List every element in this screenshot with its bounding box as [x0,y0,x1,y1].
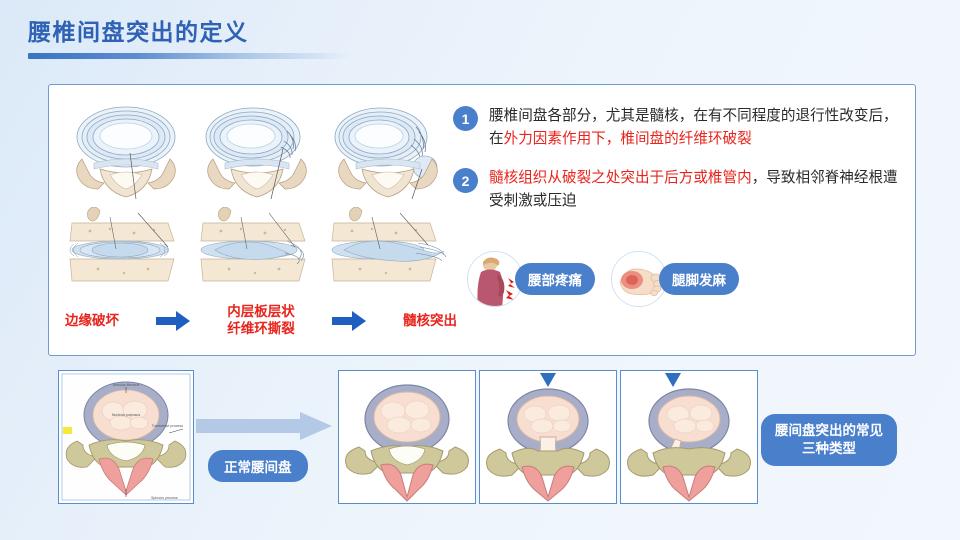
progression-step-3: 髓核突出 [403,313,457,330]
page-title: 腰椎间盘突出的定义 [28,20,350,45]
thick-right-arrow-icon [196,412,332,440]
labeled-normal-lumbar-disc: Annulus fibrosus Nucleus pulposus Transv… [58,370,194,504]
svg-text:Nucleus pulposus: Nucleus pulposus [112,413,141,417]
sagittal-disc-stage-3 [322,207,453,293]
right-arrow-icon [332,311,366,331]
anatomy-figure-group: 边缘破坏 内层板层状 纤维环撕裂 髓核突出 [61,91,453,349]
progression-label-row: 边缘破坏 内层板层状 纤维环撕裂 髓核突出 [65,297,457,345]
sagittal-views-row [61,207,453,293]
svg-text:Annulus fibrosus: Annulus fibrosus [113,383,140,387]
title-block: 腰椎间盘突出的定义 [28,20,350,59]
symptom-row: 腰部疼痛 腿脚发麻 [467,251,907,307]
sagittal-disc-stage-2 [192,207,323,293]
disc-extrusion-type [620,370,758,504]
sagittal-disc-stage-1 [61,207,192,293]
disc-types-section: Annulus fibrosus Nucleus pulposus Transv… [0,366,960,516]
right-arrow-icon [156,311,190,331]
point-number-badge: 2 [453,168,478,193]
point-number-badge: 1 [453,106,478,131]
symptom-back-pain: 腰部疼痛 [467,251,595,307]
axial-vertebra-stage-1 [61,91,192,203]
axial-views-row [61,91,453,203]
svg-text:Transverse process: Transverse process [152,424,184,428]
point-text: 腰椎间盘各部分，尤其是髓核，在有不同程度的退行性改变后，在外力因素作用下，椎间盘… [489,105,905,151]
normal-disc-label: 正常腰间盘 [208,450,308,482]
disc-bulge-type [338,370,476,504]
progression-step-1: 边缘破坏 [65,313,119,330]
title-underline [28,53,350,59]
point-text-highlight: 髓核组织从破裂之处突出于后方或椎管内 [489,170,752,186]
symptom-label-back-pain: 腰部疼痛 [515,263,595,295]
axial-vertebra-stage-3 [322,91,453,203]
symptom-numbness: 腿脚发麻 [611,251,739,307]
axial-vertebra-stage-2 [192,91,323,203]
definition-point-1: 1 腰椎间盘各部分，尤其是髓核，在有不同程度的退行性改变后，在外力因素作用下，椎… [453,105,905,151]
point-text-highlight: 外力因素作用下，椎间盘的纤维环破裂 [504,131,752,147]
disc-protrusion-type [479,370,617,504]
point-text: 髓核组织从破裂之处突出于后方或椎管内，导致相邻脊神经根遭受刺激或压迫 [489,167,905,213]
definition-text-block: 1 腰椎间盘各部分，尤其是髓核，在有不同程度的退行性改变后，在外力因素作用下，椎… [453,105,905,229]
svg-text:Spinous process: Spinous process [151,496,178,500]
progression-step-2: 内层板层状 纤维环撕裂 [227,304,295,338]
symptom-label-numbness: 腿脚发麻 [659,263,739,295]
definition-panel: 边缘破坏 内层板层状 纤维环撕裂 髓核突出 1 腰椎间盘各部分，尤其是髓核，在有… [48,84,916,356]
disc-types-label: 腰间盘突出的常见三种类型 [761,414,897,466]
definition-point-2: 2 髓核组织从破裂之处突出于后方或椎管内，导致相邻脊神经根遭受刺激或压迫 [453,167,905,213]
